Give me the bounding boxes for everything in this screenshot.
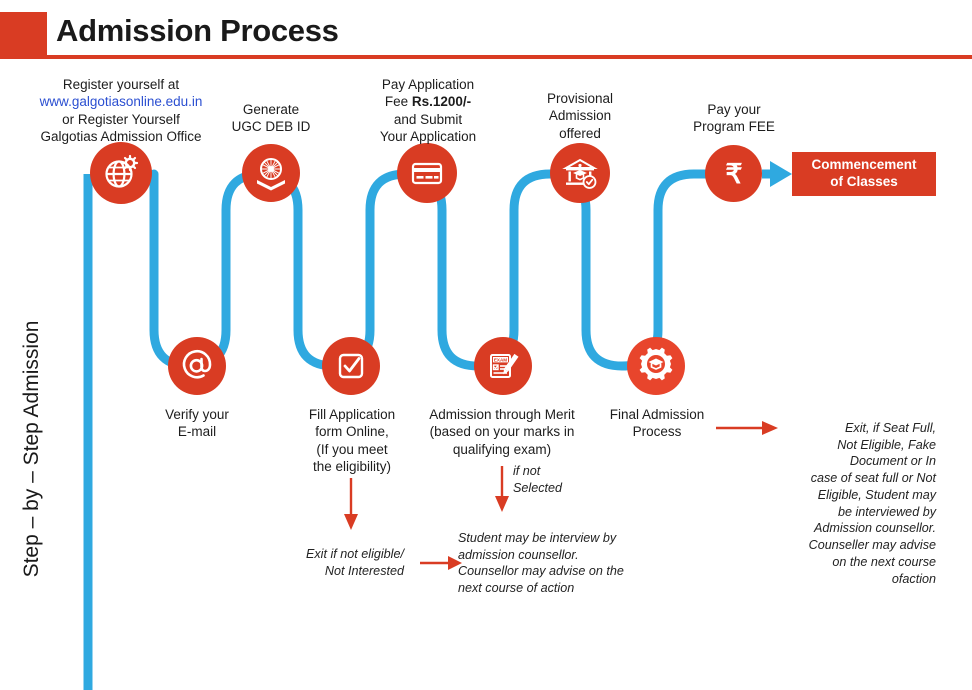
step-node-ugc-deb[interactable] [242,144,300,202]
step-node-verify-email[interactable] [168,337,226,395]
note-line: if not [513,463,603,480]
note-if-not-selected: if not Selected [513,463,603,496]
caption-line: E-mail [132,423,262,440]
caption-line: UGC DEB ID [205,118,337,135]
step-node-register[interactable] [90,142,152,204]
caption-line: form Online, [286,423,418,440]
note-line: Admission counsellor. [740,520,936,537]
caption-line: Your Application [340,128,516,145]
note-line: next course of action [458,580,678,597]
commencement-of-classes-box: Commencement of Classes [792,152,936,196]
caption-line: (based on your marks in [402,423,602,440]
commencement-line: of Classes [811,174,916,191]
gear-graduation-icon [635,345,677,387]
note-line: Counsellor may advise on the [458,563,678,580]
fee-prefix: Fee [385,94,412,109]
step-node-pay-program-fee[interactable]: ₹ [705,145,762,202]
step-node-fill-application[interactable] [322,337,380,395]
red-arrow-head-not-selected [495,496,509,512]
step-node-final-admission[interactable] [627,337,685,395]
ugc-emblem-icon [251,153,291,193]
caption-line: Pay your [672,101,796,118]
graduation-building-check-icon [561,154,599,192]
caption-verify-email: Verify your E-mail [132,406,262,441]
fee-amount: Rs.1200/- [412,94,471,109]
caption-line: Provisional [512,90,648,107]
note-line: be interviewed by [740,504,936,521]
caption-fill-application: Fill Application form Online, (If you me… [286,406,418,475]
caption-ugc-deb: Generate UGC DEB ID [205,101,337,136]
note-line: Not Eligible, Fake [740,437,936,454]
note-line: case of seat full or Not [740,470,936,487]
caption-provisional-admission: Provisional Admission offered [512,90,648,142]
note-line: Exit if not eligible/ [258,546,404,563]
caption-line: Fill Application [286,406,418,423]
note-line: admission counsellor. [458,547,678,564]
note-line: Not Interested [258,563,404,580]
caption-line: Generate [205,101,337,118]
rupee-icon: ₹ [717,157,751,191]
caption-line: (If you meet [286,441,418,458]
step-node-provisional-admission[interactable] [550,143,610,203]
admission-process-infographic: Admission Process Step – by – Step Admis… [0,0,972,690]
note-final-exit: Exit, if Seat Full, Not Eligible, Fake D… [740,420,936,587]
caption-merit-admission: Admission through Merit (based on your m… [402,406,602,458]
step-node-merit-admission[interactable]: EXAM [474,337,532,395]
caption-line: Register yourself at [0,76,242,93]
checkbox-check-icon [334,349,368,383]
note-line: Exit, if Seat Full, [740,420,936,437]
credit-card-icon [409,155,445,191]
note-line: on the next course [740,554,936,571]
note-line: Student may be interview by [458,530,678,547]
caption-line: offered [512,125,648,142]
caption-line: Pay Application [340,76,516,93]
svg-text:EXAM: EXAM [494,358,507,363]
note-counsellor-merit: Student may be interview by admission co… [458,530,678,597]
caption-final-admission: Final Admission Process [588,406,726,441]
exam-pencil-icon: EXAM [485,348,521,384]
svg-text:₹: ₹ [725,159,742,189]
caption-line: Program FEE [672,118,796,135]
step-node-pay-application-fee[interactable] [397,143,457,203]
caption-line: Admission through Merit [402,406,602,423]
globe-gear-icon [101,153,141,193]
note-line: Selected [513,480,603,497]
caption-pay-program-fee: Pay your Program FEE [672,101,796,136]
note-line: ofaction [740,571,936,588]
caption-line: the eligibility) [286,458,418,475]
caption-line: Process [588,423,726,440]
note-line: Counseller may advise [740,537,936,554]
red-arrow-head-exit-eligible [344,514,358,530]
blue-arrow-head [770,161,792,187]
caption-pay-application-fee: Pay Application Fee Rs.1200/- and Submit… [340,76,516,145]
caption-line: Verify your [132,406,262,423]
at-email-icon [179,348,215,384]
caption-line: qualifying exam) [402,441,602,458]
note-line: Document or In [740,453,936,470]
caption-line: Admission [512,107,648,124]
commencement-line: Commencement [811,157,916,174]
note-line: Eligible, Student may [740,487,936,504]
caption-line-amount: Fee Rs.1200/- [340,93,516,110]
note-exit-not-eligible: Exit if not eligible/ Not Interested [258,546,404,579]
caption-line: Final Admission [588,406,726,423]
caption-line: and Submit [340,111,516,128]
